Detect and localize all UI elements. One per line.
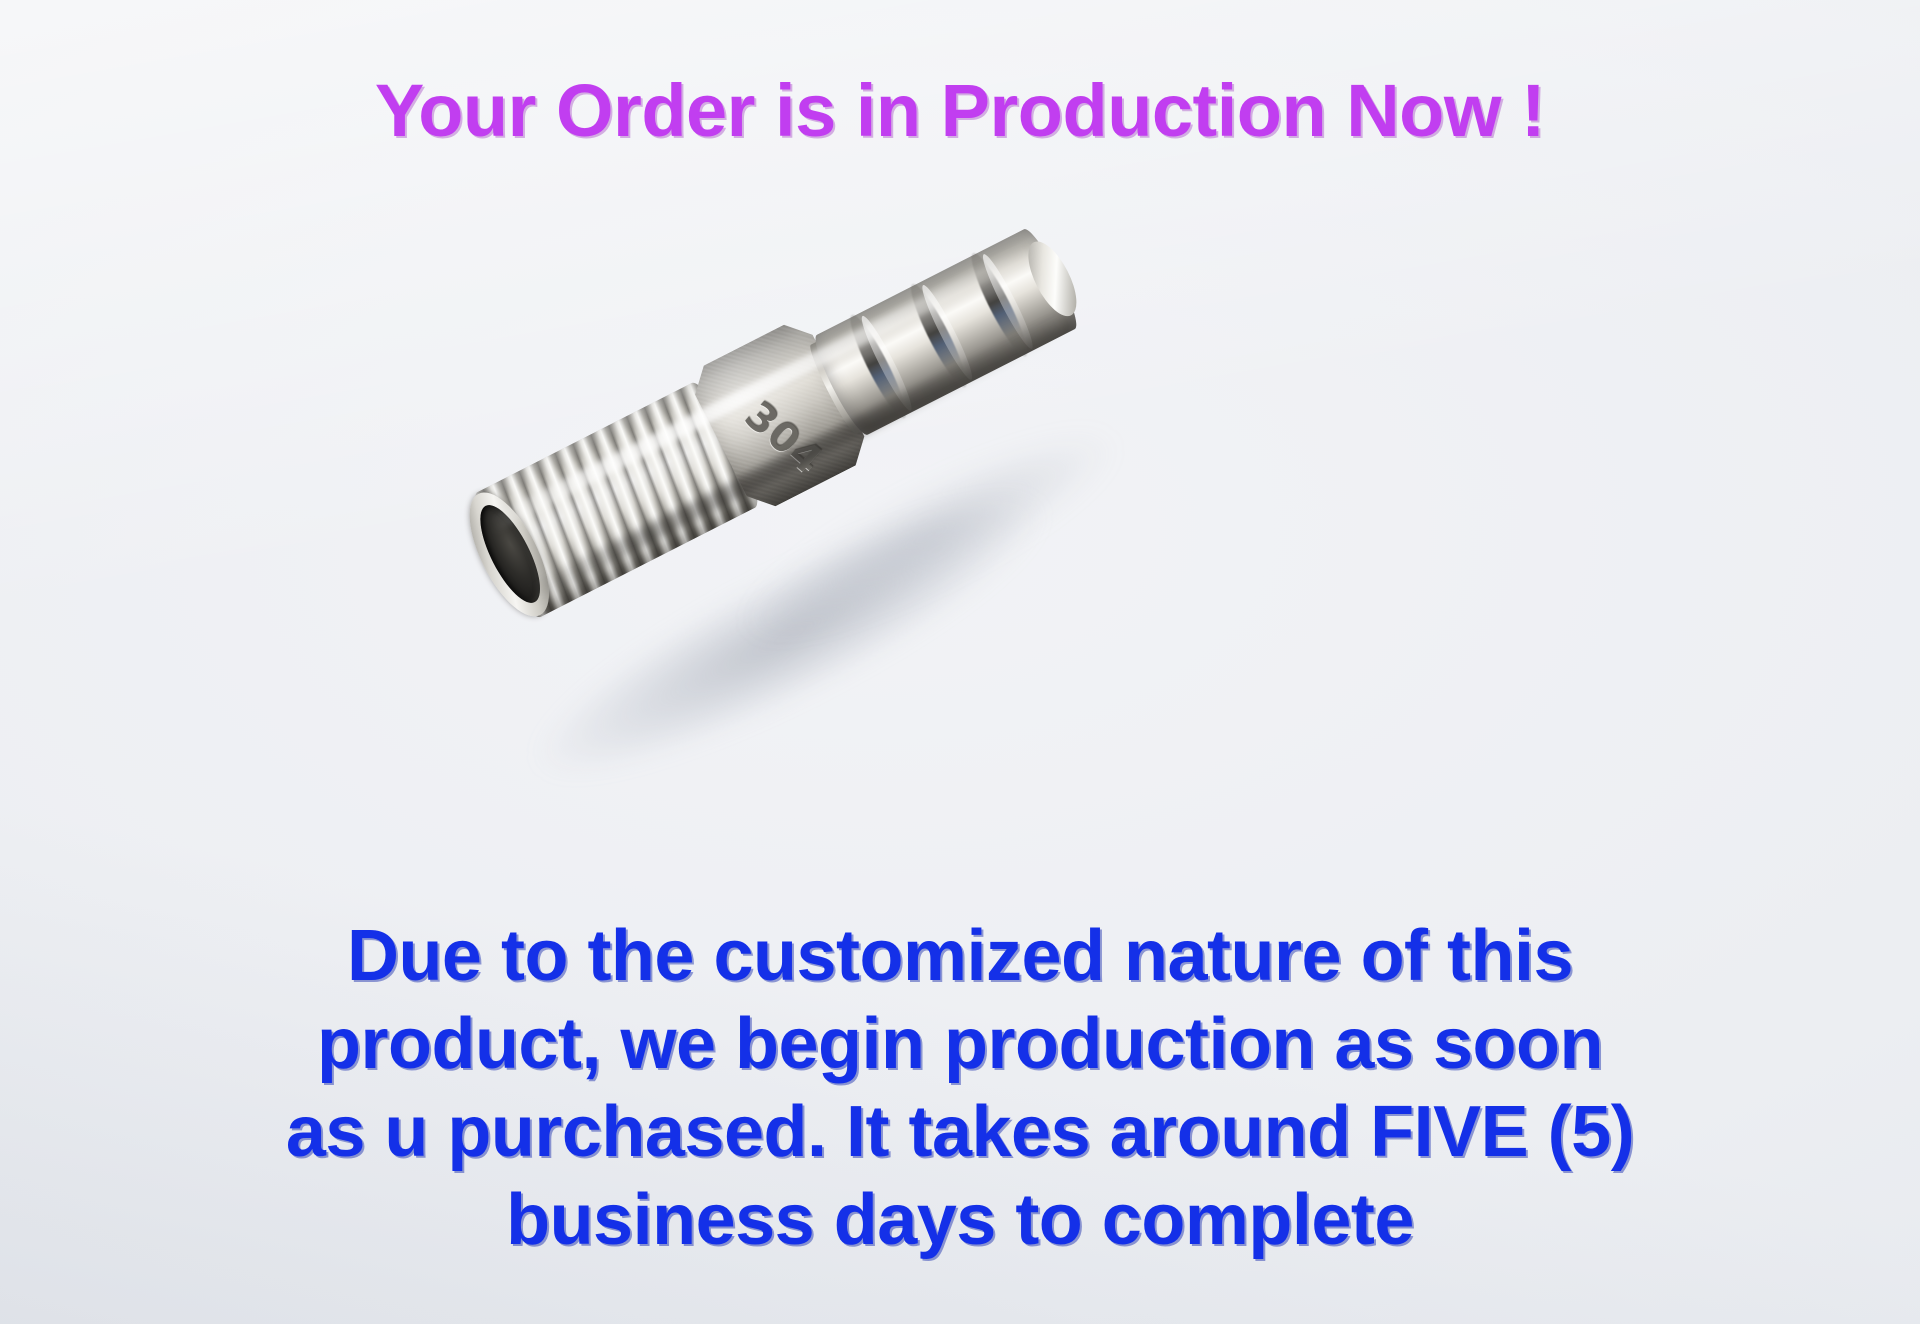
product-image: 304	[470, 300, 1170, 750]
barb-groove-2	[904, 279, 974, 391]
notice-line-1: Due to the customized nature of this	[0, 912, 1920, 1000]
page-title: Your Order is in Production Now !	[0, 74, 1920, 148]
barbed-section	[808, 225, 1083, 439]
production-notice: Due to the customized nature of this pro…	[0, 912, 1920, 1264]
barb-groove-3	[964, 248, 1034, 360]
notice-line-3: as u purchased. It takes around FIVE (5)	[0, 1088, 1920, 1176]
notice-line-4: business days to complete	[0, 1176, 1920, 1264]
notice-line-2: product, we begin production as soon	[0, 1000, 1920, 1088]
barb-end-cap	[1019, 235, 1087, 323]
barb-groove-1	[843, 310, 913, 422]
promo-banner: Your Order is in Production Now ! 304	[0, 0, 1920, 1324]
